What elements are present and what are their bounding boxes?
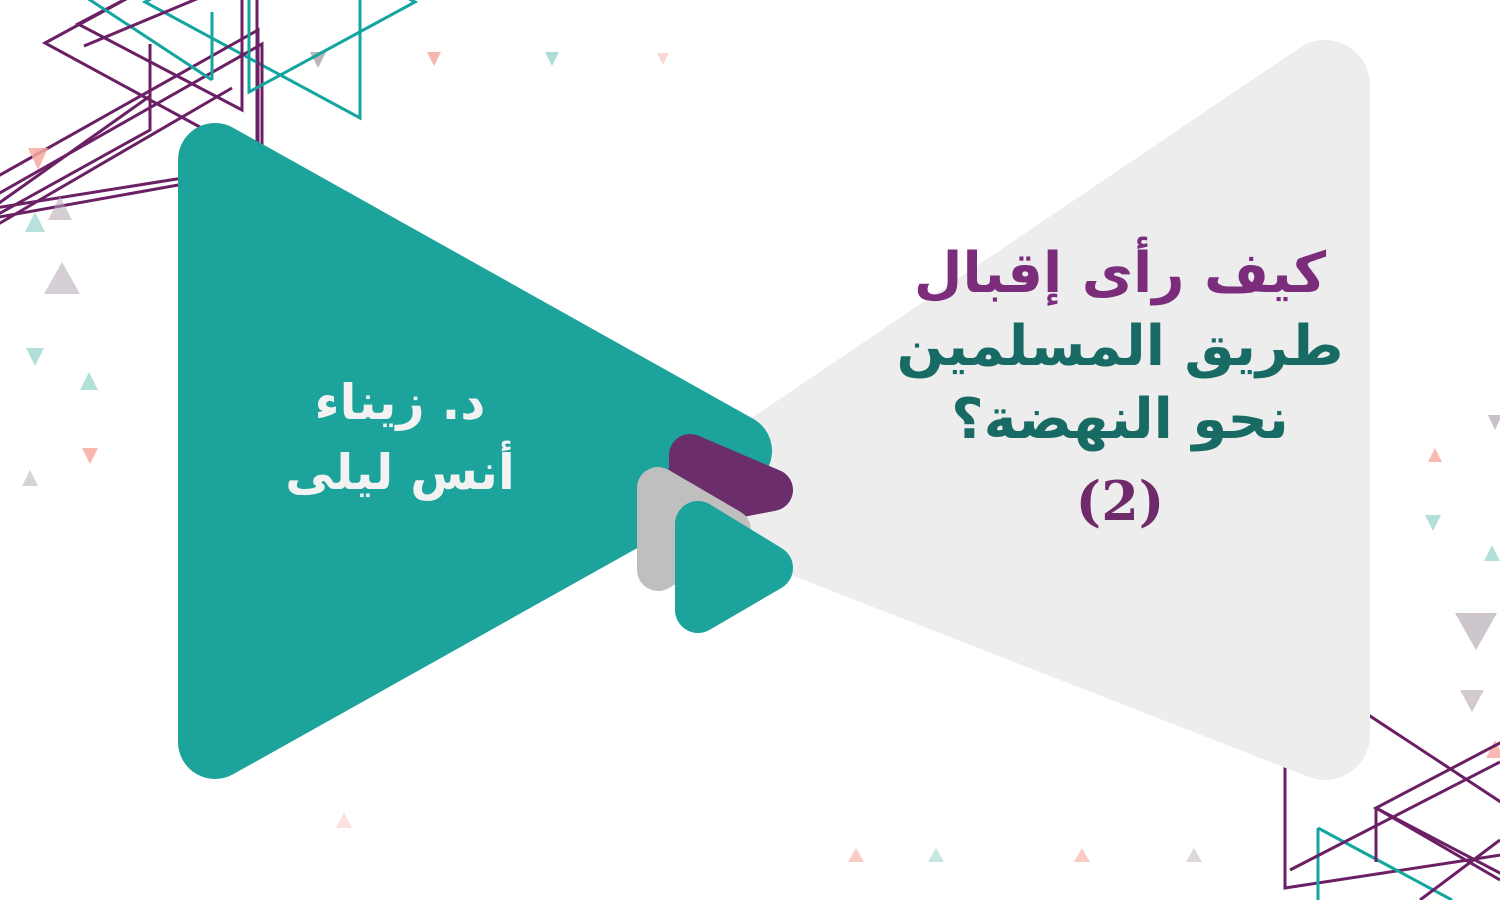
title-line-3: نحو النهضة؟ <box>860 384 1380 457</box>
speaker-name-line-1: د. زيناء <box>235 368 565 438</box>
presentation-slide: كيف رأى إقبال طريق المسلمين نحو النهضة؟ … <box>0 0 1500 900</box>
title-line-1: كيف رأى إقبال <box>860 238 1380 311</box>
slide-title: كيف رأى إقبال طريق المسلمين نحو النهضة؟ … <box>860 238 1380 537</box>
text-layer: كيف رأى إقبال طريق المسلمين نحو النهضة؟ … <box>0 0 1500 900</box>
title-part-number: (2) <box>860 466 1380 536</box>
speaker-name: د. زيناء أنس ليلى <box>235 368 565 507</box>
title-line-2: طريق المسلمين <box>860 311 1380 384</box>
speaker-name-line-2: أنس ليلى <box>235 438 565 508</box>
